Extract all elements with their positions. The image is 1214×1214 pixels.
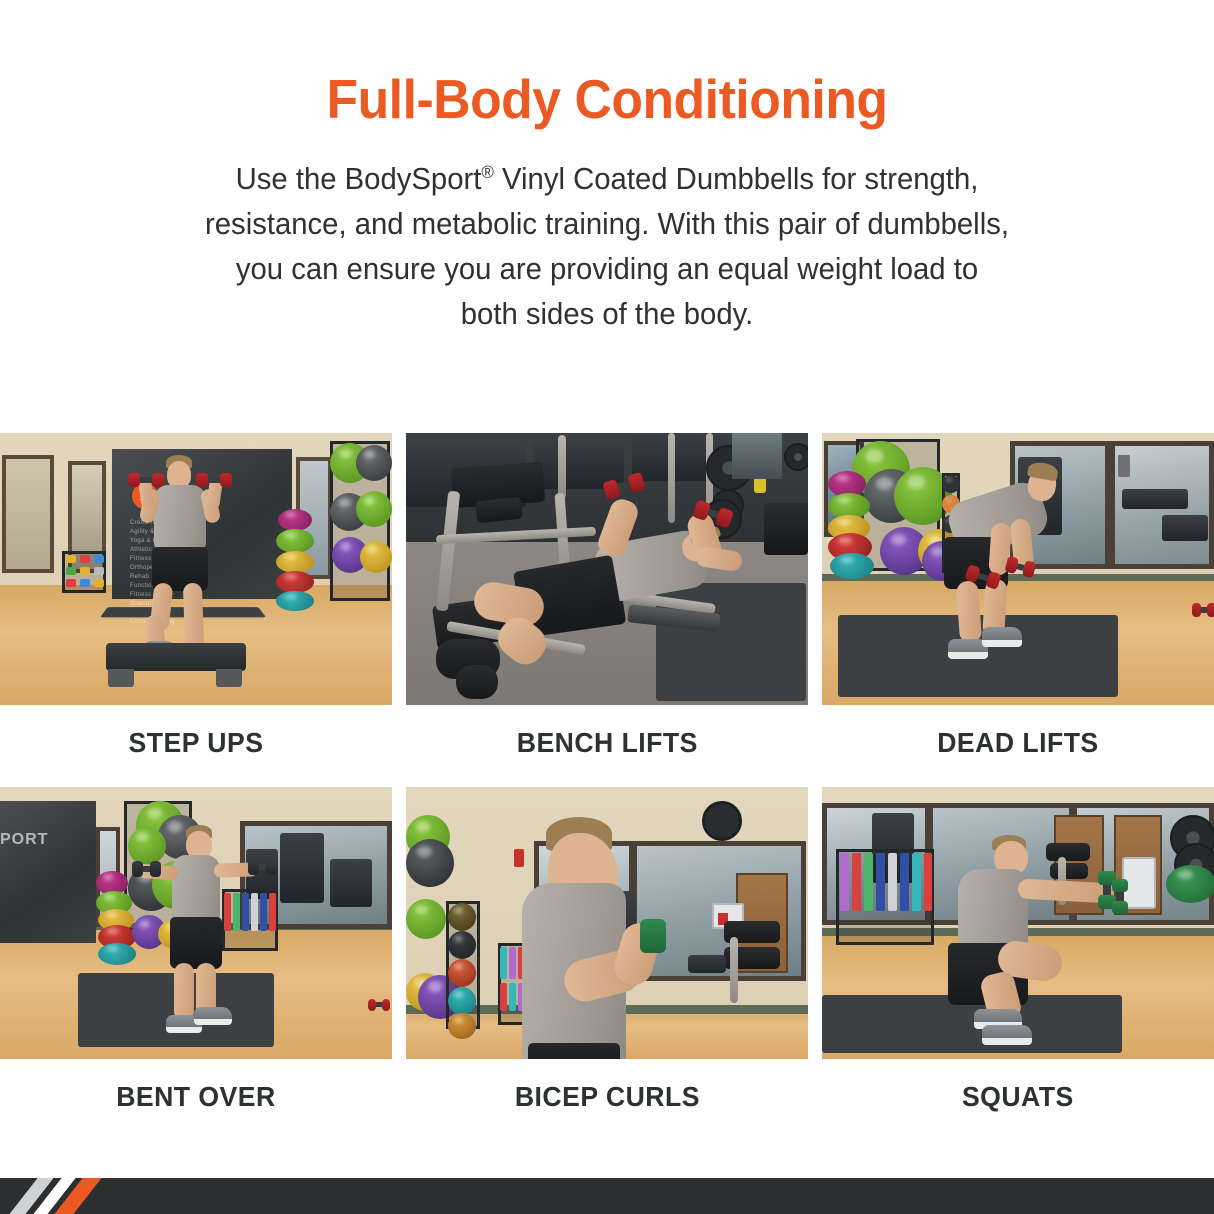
exercise-card-bent-over[interactable]: PORT — [0, 787, 392, 1113]
footer-bar — [0, 1178, 1214, 1214]
page-title: Full-Body Conditioning — [36, 72, 1177, 127]
wall-clock-icon — [702, 801, 742, 841]
photo-bicep-curls — [406, 787, 808, 1059]
exercise-grid: B CrossFitAgility & SpeedYoga & PilatesA… — [0, 433, 1214, 1141]
dumbbell-icon — [196, 473, 232, 487]
exercise-row-1: B CrossFitAgility & SpeedYoga & PilatesA… — [0, 433, 1214, 759]
dumbbell-icon — [640, 919, 666, 953]
caption-bench-lifts: BENCH LIFTS — [516, 727, 697, 759]
dumbbell-icon — [248, 859, 276, 875]
intro-line-1a: Use the BodySport — [236, 162, 482, 196]
dumbbell-icon — [132, 861, 160, 877]
exercise-card-step-ups[interactable]: B CrossFitAgility & SpeedYoga & PilatesA… — [0, 433, 392, 759]
dumbbell-icon — [128, 473, 164, 487]
intro-line-3: you can ensure you are providing an equa… — [84, 247, 1130, 292]
caption-bicep-curls: BICEP CURLS — [514, 1081, 699, 1113]
caption-squats: SQUATS — [962, 1081, 1074, 1113]
caption-step-ups: STEP UPS — [129, 727, 264, 759]
photo-squats — [822, 787, 1214, 1059]
exercise-card-bench-lifts[interactable]: BENCH LIFTS — [406, 433, 808, 759]
mural-word: PORT — [0, 831, 48, 849]
dumbbell-icon — [1192, 603, 1214, 617]
intro-line-4: both sides of the body. — [84, 292, 1130, 337]
registered-mark: ® — [481, 162, 494, 182]
intro-line-1b: Vinyl Coated Dumbbells for strength, — [494, 162, 978, 196]
intro-line-1: Use the BodySport® Vinyl Coated Dumbbell… — [84, 157, 1130, 202]
exercise-card-squats[interactable]: SQUATS — [822, 787, 1214, 1113]
header: Full-Body Conditioning Use the BodySport… — [0, 0, 1214, 338]
exercise-card-bicep-curls[interactable]: BICEP CURLS — [406, 787, 808, 1113]
photo-dead-lifts — [822, 433, 1214, 705]
intro-line-2: resistance, and metabolic training. With… — [84, 202, 1130, 247]
dumbbell-icon — [368, 999, 390, 1011]
photo-bench-lifts — [406, 433, 808, 705]
photo-step-ups: B CrossFitAgility & SpeedYoga & PilatesA… — [0, 433, 392, 705]
photo-bent-over: PORT — [0, 787, 392, 1059]
dumbbell-icon — [1112, 879, 1128, 913]
caption-bent-over: BENT OVER — [116, 1081, 275, 1113]
exercise-row-2: PORT — [0, 787, 1214, 1113]
exercise-card-dead-lifts[interactable]: DEAD LIFTS — [822, 433, 1214, 759]
page-root: Full-Body Conditioning Use the BodySport… — [0, 0, 1214, 1214]
caption-dead-lifts: DEAD LIFTS — [937, 727, 1098, 759]
step-platform — [106, 643, 246, 671]
intro-paragraph: Use the BodySport® Vinyl Coated Dumbbell… — [84, 157, 1130, 338]
